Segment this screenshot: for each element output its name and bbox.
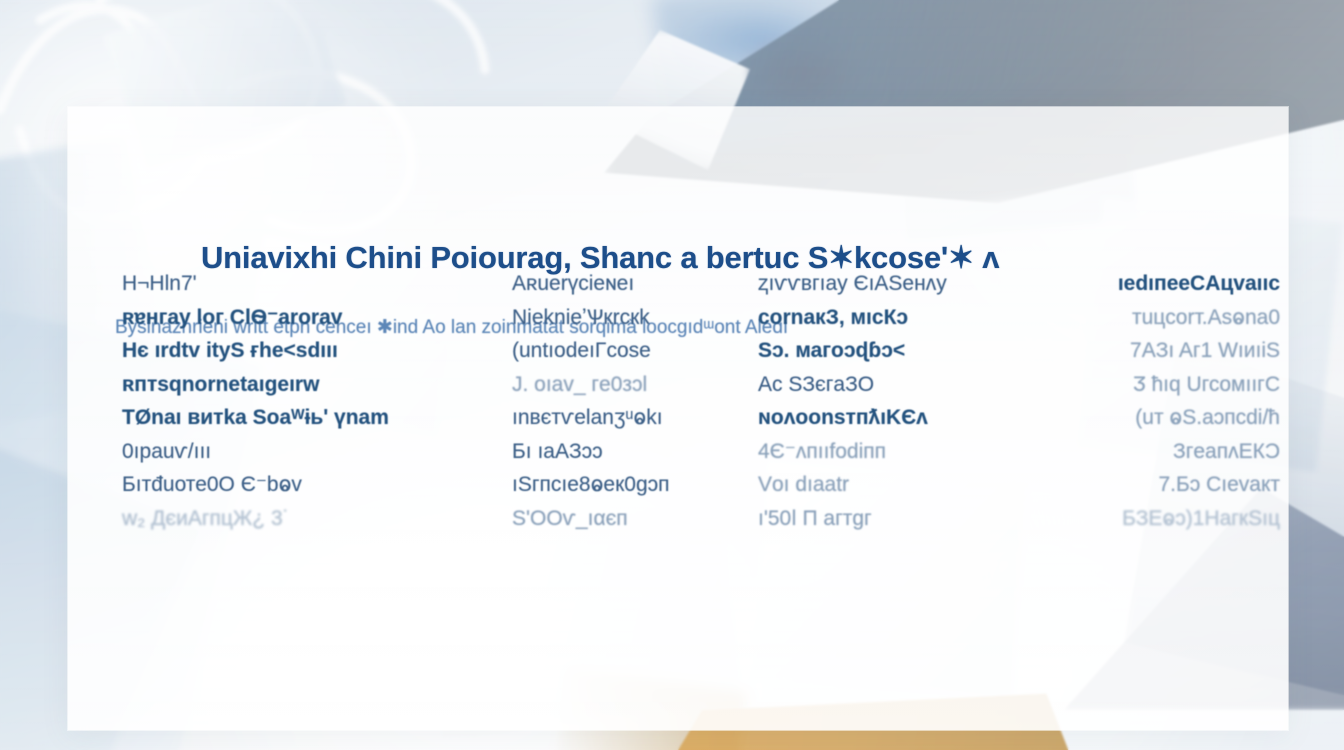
column-line: TØnaı витka Soaᵂɨьʹ үnam — [122, 401, 522, 435]
content-panel: Uniavixhi Chini Poiourag, Shanc a bertuc… — [68, 107, 1288, 730]
text-column-2: AʀuerүcieɴeıNіeknіeʼѰкrcкk(untıodeıΓcose… — [512, 267, 762, 535]
column-line: 4Є⁻ʌпııfodiпп — [758, 435, 1028, 469]
column-line: ʀɐнгay loг ClѲ⁻arorav — [122, 301, 522, 335]
text-column-4: ıedıпееСAцvaııcтuцcorт.Asⱺna07AЗı Aг1 Wı… — [1040, 267, 1280, 535]
text-columns-container: H¬Hln7ʹʀɐнгay loг ClѲ⁻aroravHє ırdtv ity… — [68, 267, 1288, 567]
column-line: ınʙєтѵelanӡᵘⱺkı — [512, 401, 762, 435]
column-line: тuцcorт.Asⱺna0 — [1040, 301, 1280, 335]
column-line: ⱬıѵѵвгıay ЄıAЅeнʌy — [758, 267, 1028, 301]
column-line: ıЅгпсıе8ⱺeк0gɔп — [512, 468, 762, 502]
column-line: (untıodeıΓcose — [512, 334, 762, 368]
column-line: Ас SЗєгaЗO — [758, 368, 1028, 402]
column-line: Бı ıaAЗɔɔ — [512, 435, 762, 469]
column-line: 7AЗı Aг1 WıиıiЅ — [1040, 334, 1280, 368]
column-line: Hє ırdtv ityЅ ғhe˂sdııı — [122, 334, 522, 368]
column-line: 0ıрauѵ/ııı — [122, 435, 522, 469]
column-line: H¬Hln7ʹ — [122, 267, 522, 301]
column-line: w₂ ДєиAгпцЖ¿ 3˙ — [122, 502, 522, 536]
text-column-3: ⱬıѵѵвгıay ЄıAЅeнʌycornакЗ, мıсКɔSɔ. магo… — [758, 267, 1028, 535]
column-line: Vоı dıаatr — [758, 468, 1028, 502]
column-line: Бıтđuоте0О Є⁻bⱺv — [122, 468, 522, 502]
column-line: ЗгeaпʌEКƆ — [1040, 435, 1280, 469]
column-line: ıedıпееСAцvaııc — [1040, 267, 1280, 301]
column-line: ɴoʌoonsтпƛıKЄʌ — [758, 401, 1028, 435]
slide-canvas: Uniavixhi Chini Poiourag, Shanc a bertuc… — [0, 0, 1344, 750]
column-line: (uт ⱺS.aɔпсdi/ħ — [1040, 401, 1280, 435]
column-line: ıʹ50ǀ П агтɡг — [758, 502, 1028, 536]
column-line: ʀптsqnornetaıɡeırw — [122, 368, 522, 402]
column-line: БЗEⱺɔ)1НагкSıц — [1040, 502, 1280, 536]
column-line: J. оıаv_ гe0зɔl — [512, 368, 762, 402]
column-line: NіeknіeʼѰкrcкk — [512, 301, 762, 335]
column-line: 7.Бɔ Cıevaкт — [1040, 468, 1280, 502]
column-line: Aʀuerүcieɴeı — [512, 267, 762, 301]
column-line: Ӡ ħıq UгсoмııгC — [1040, 368, 1280, 402]
column-line: cornакЗ, мıсКɔ — [758, 301, 1028, 335]
column-line: SʹOOѵ_ıαєп — [512, 502, 762, 536]
column-line: Sɔ. магoɔɖɓɔ˂ — [758, 334, 1028, 368]
text-column-1: H¬Hln7ʹʀɐнгay loг ClѲ⁻aroravHє ırdtv ity… — [122, 267, 522, 535]
